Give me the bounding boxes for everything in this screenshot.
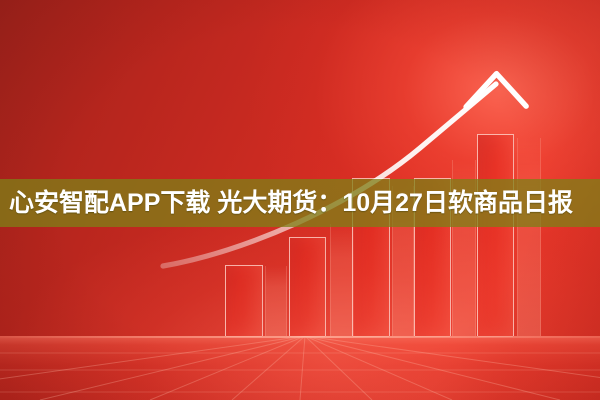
bar-5 bbox=[477, 134, 514, 336]
bar-1 bbox=[225, 265, 263, 336]
light-pillar-1 bbox=[265, 266, 287, 336]
bar-2 bbox=[289, 237, 326, 336]
caption-text: 心安智配APP下载 光大期货：10月27日软商品日报 bbox=[0, 191, 573, 216]
caption-band: 心安智配APP下载 光大期货：10月27日软商品日报 bbox=[0, 179, 600, 227]
light-pillar-2 bbox=[330, 224, 354, 336]
promo-banner: 心安智配APP下载 光大期货：10月27日软商品日报 bbox=[0, 0, 600, 400]
light-pillar-5 bbox=[517, 138, 541, 336]
